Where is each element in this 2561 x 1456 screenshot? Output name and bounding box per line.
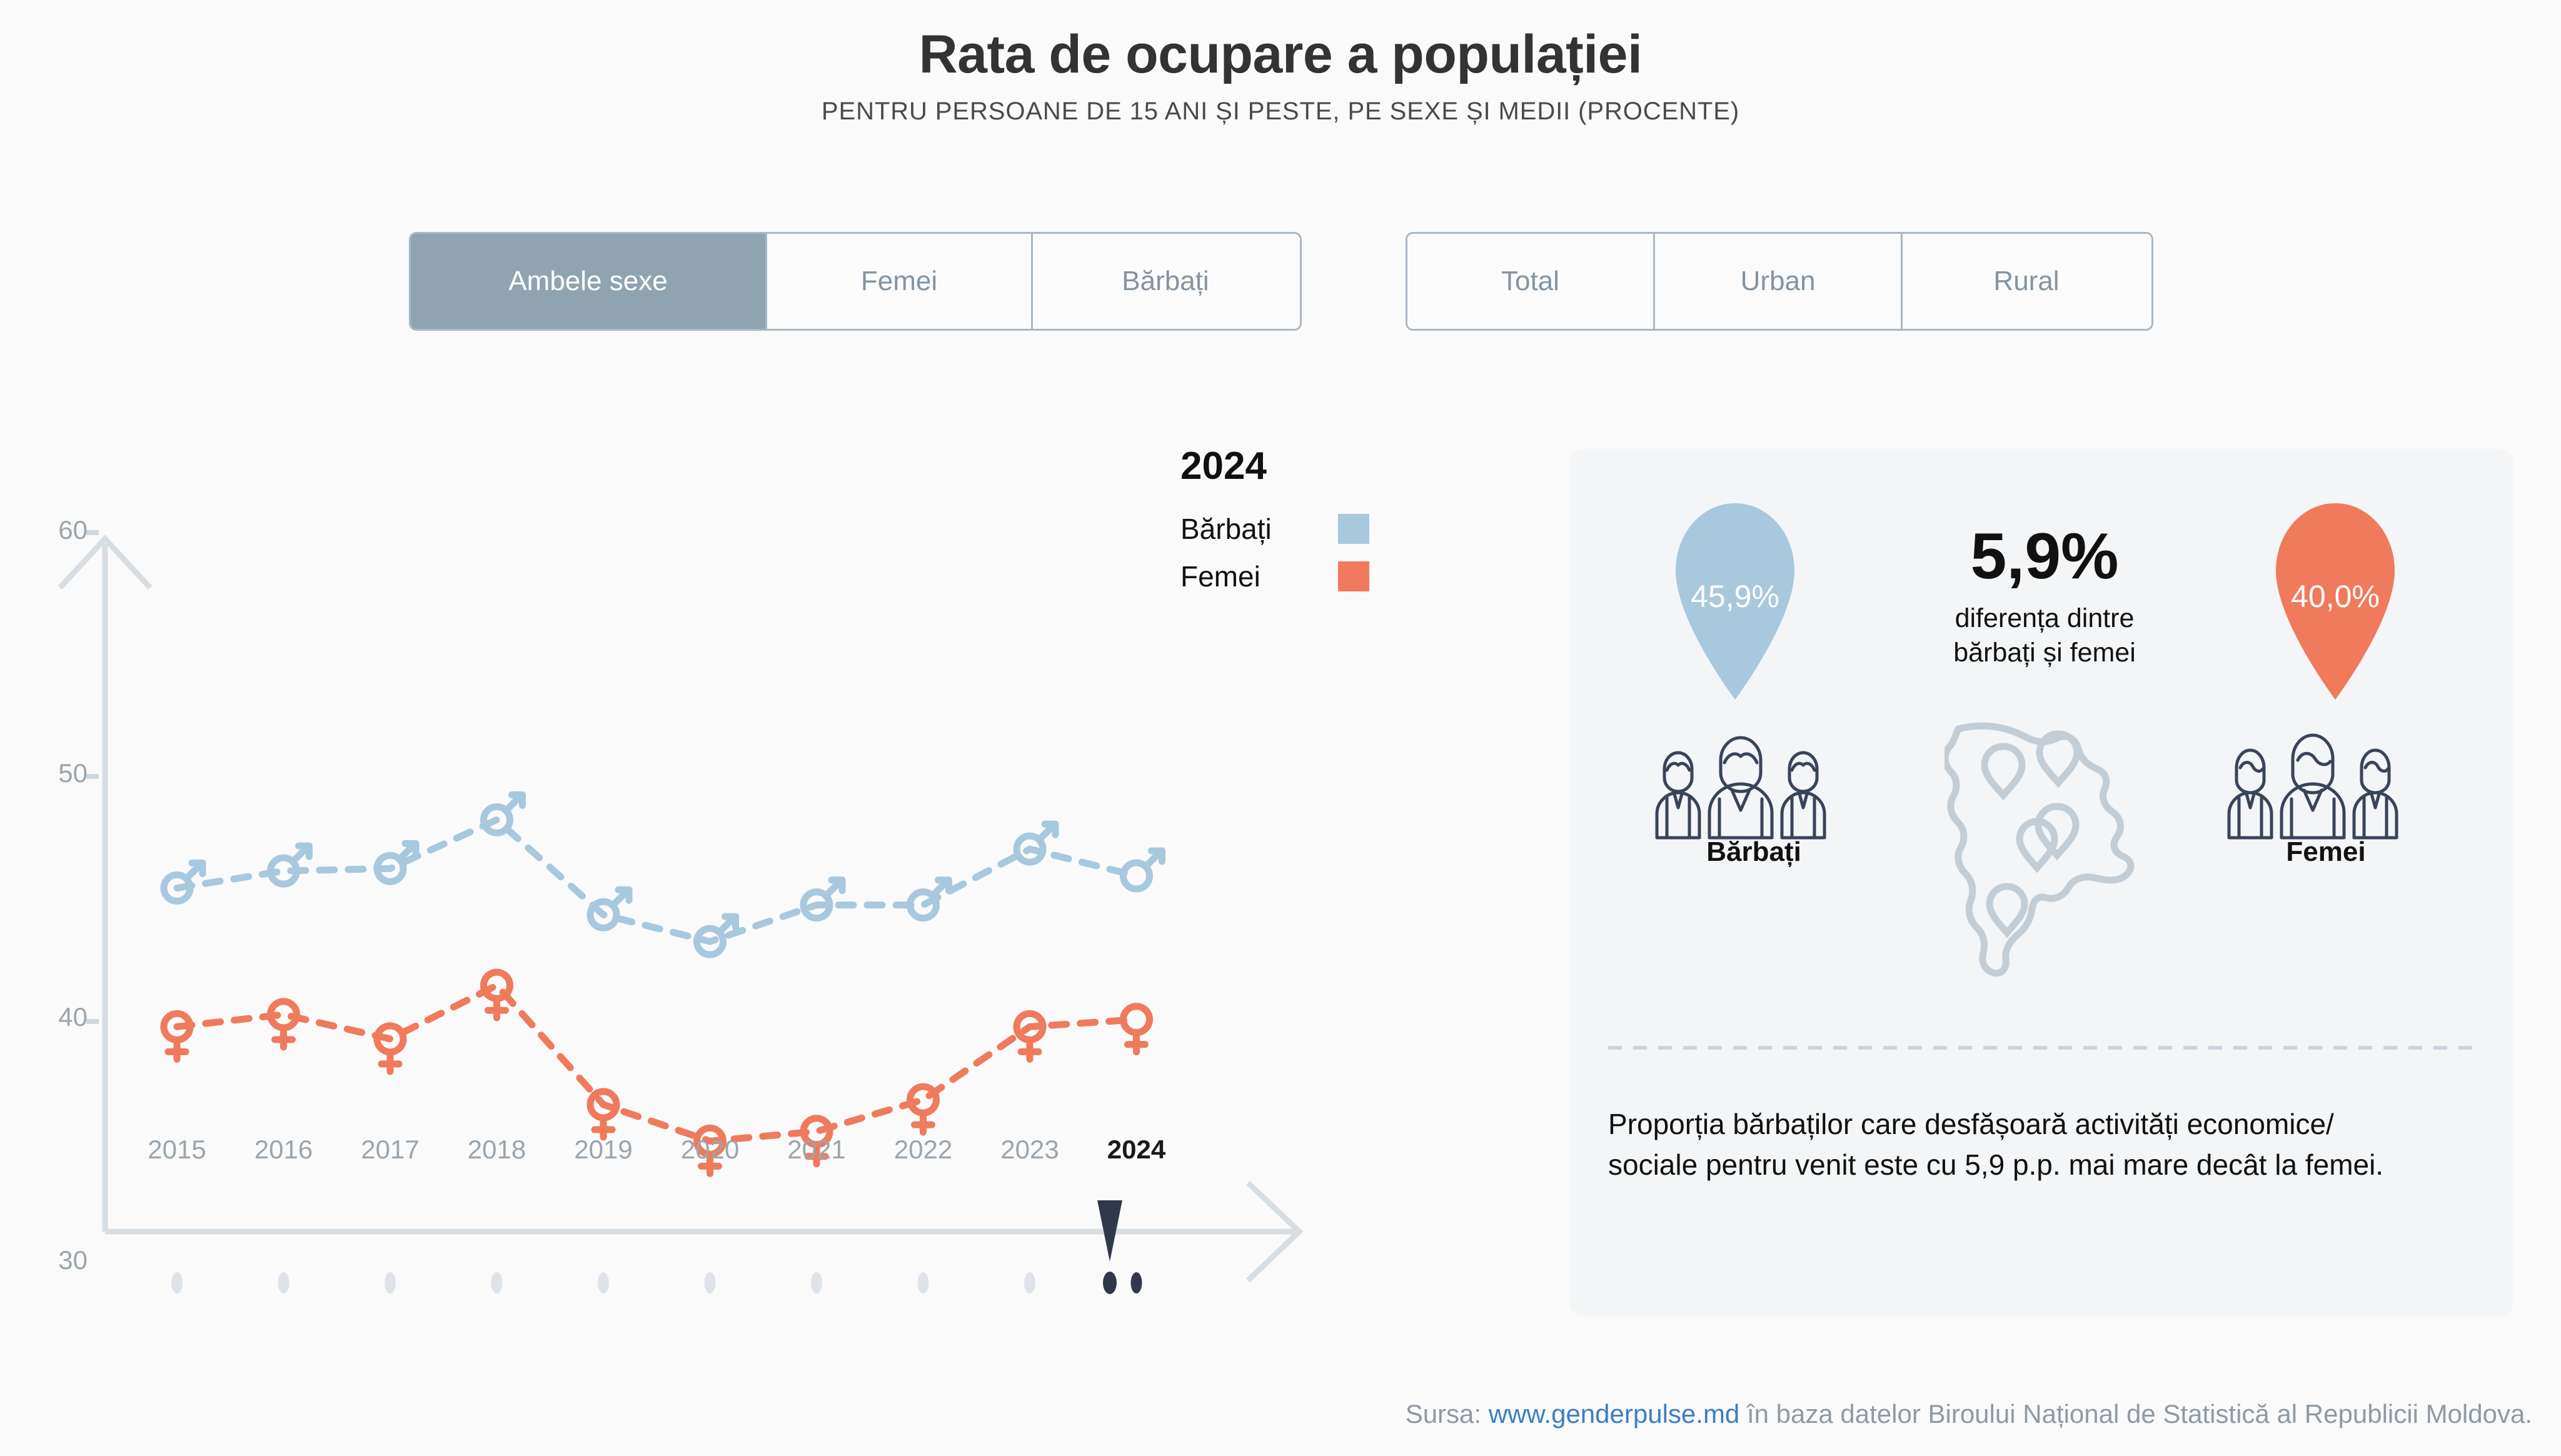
chart-series-layer bbox=[164, 795, 1162, 1173]
mars-symbol-2016[interactable] bbox=[271, 846, 309, 884]
info-panel: 45,9% 40,0% 5,9% diferența dintre bărbaț… bbox=[1569, 449, 2513, 1317]
mars-symbol-2023[interactable] bbox=[1017, 824, 1055, 862]
difference-caption: diferența dintre bărbați și femei bbox=[1857, 589, 2232, 670]
mars-symbol-2024[interactable] bbox=[1124, 851, 1162, 889]
header: Rata de ocupare a populației PENTRU PERS… bbox=[0, 0, 2561, 126]
people-group-femei bbox=[2223, 729, 2429, 845]
tab-ambele-sexe[interactable]: Ambele sexe bbox=[411, 234, 767, 329]
source-footer: Sursa: www.genderpulse.md în baza datelo… bbox=[0, 1399, 2561, 1429]
infographic-page: Rata de ocupare a populației PENTRU PERS… bbox=[0, 0, 2561, 1456]
source-prefix: Sursa: bbox=[1406, 1399, 1489, 1428]
mars-symbol-2015[interactable] bbox=[164, 863, 203, 901]
difference-caption-line1: diferența dintre bbox=[1955, 603, 2135, 633]
legend-swatch-barbati bbox=[1338, 514, 1369, 544]
y-tick-40: 40 bbox=[19, 1002, 88, 1032]
chart-legend: 2024 Bărbați Femei bbox=[1180, 444, 1406, 607]
x-dot-2015 bbox=[171, 1272, 183, 1293]
x-dot-2024 bbox=[1131, 1272, 1142, 1293]
pin-femei: 40,0% bbox=[2263, 496, 2407, 702]
filter-tabs: Ambele sexe Femei Bărbați Total Urban Ru… bbox=[0, 232, 2561, 332]
moldova-map-icon bbox=[1945, 718, 2151, 990]
chart-y-ticks bbox=[86, 533, 99, 1022]
x-dot-2023 bbox=[1024, 1272, 1035, 1293]
x-dot-2019 bbox=[598, 1272, 609, 1293]
venus-symbol-2024[interactable] bbox=[1124, 1007, 1150, 1052]
pin-value-barbati: 45,9% bbox=[1663, 578, 1807, 615]
source-link[interactable]: www.genderpulse.md bbox=[1489, 1399, 1740, 1428]
legend-label-femei: Femei bbox=[1180, 560, 1260, 593]
page-subtitle: PENTRU PERSOANE DE 15 ANI ȘI PESTE, PE S… bbox=[0, 83, 2561, 126]
mars-symbol-2021[interactable] bbox=[803, 880, 842, 918]
difference-block: 5,9% diferența dintre bărbați și femei bbox=[1857, 524, 2232, 670]
tab-total[interactable]: Total bbox=[1407, 234, 1655, 329]
panel-divider bbox=[1608, 1046, 2474, 1050]
tabgroup-sex: Ambele sexe Femei Bărbați bbox=[409, 232, 1302, 331]
mars-symbol-2018[interactable] bbox=[484, 795, 523, 833]
x-tick-2016[interactable]: 2016 bbox=[224, 1135, 343, 1165]
panel-note: Proporția bărbaților care desfășoară act… bbox=[1608, 1104, 2427, 1186]
x-dot-2020 bbox=[705, 1272, 716, 1293]
x-tick-2021[interactable]: 2021 bbox=[757, 1135, 876, 1165]
series-line-bărbați bbox=[177, 820, 1137, 941]
venus-symbol-2022[interactable] bbox=[910, 1087, 937, 1132]
legend-label-barbati: Bărbați bbox=[1180, 512, 1272, 546]
legend-item-barbati[interactable]: Bărbați bbox=[1180, 512, 1369, 546]
pin-barbati: 45,9% bbox=[1663, 496, 1807, 702]
people-group-barbati bbox=[1651, 729, 1857, 845]
x-dot-2022 bbox=[918, 1272, 929, 1293]
x-tick-2020[interactable]: 2020 bbox=[651, 1135, 770, 1165]
venus-symbol-2023[interactable] bbox=[1017, 1013, 1043, 1059]
x-tick-2018[interactable]: 2018 bbox=[438, 1135, 556, 1165]
chart-x-dots bbox=[171, 1272, 1142, 1293]
x-tick-2015[interactable]: 2015 bbox=[118, 1135, 236, 1165]
difference-value: 5,9% bbox=[1857, 524, 2232, 589]
tab-barbati[interactable]: Bărbați bbox=[1033, 234, 1298, 329]
legend-swatch-femei bbox=[1338, 561, 1369, 591]
x-tick-2022[interactable]: 2022 bbox=[864, 1135, 983, 1165]
venus-symbol-2019[interactable] bbox=[590, 1092, 616, 1137]
x-tick-2023[interactable]: 2023 bbox=[970, 1135, 1089, 1165]
source-suffix: în baza datelor Biroului Național de Sta… bbox=[1739, 1399, 2532, 1428]
tab-rural[interactable]: Rural bbox=[1903, 234, 2150, 329]
tab-urban[interactable]: Urban bbox=[1655, 234, 1903, 329]
x-tick-2019[interactable]: 2019 bbox=[544, 1135, 663, 1165]
y-tick-60: 60 bbox=[19, 515, 88, 545]
x-tick-2017[interactable]: 2017 bbox=[331, 1135, 450, 1165]
y-tick-50: 50 bbox=[19, 758, 88, 788]
x-dot-2021 bbox=[811, 1272, 822, 1293]
pin-value-femei: 40,0% bbox=[2263, 578, 2407, 615]
x-tick-2024[interactable]: 2024 bbox=[1077, 1135, 1196, 1165]
page-title: Rata de ocupare a populației bbox=[0, 0, 2561, 83]
x-dot-2017 bbox=[385, 1272, 396, 1293]
current-year-pointer bbox=[1097, 1200, 1122, 1294]
venus-symbol-2018[interactable] bbox=[484, 972, 510, 1018]
legend-item-femei[interactable]: Femei bbox=[1180, 560, 1369, 593]
people-label-femei: Femei bbox=[2223, 836, 2429, 868]
y-tick-30: 30 bbox=[19, 1245, 88, 1275]
chart-axes bbox=[60, 539, 1299, 1280]
venus-symbol-2016[interactable] bbox=[271, 1002, 297, 1047]
x-dot-2018 bbox=[491, 1272, 503, 1293]
x-dot-2016 bbox=[278, 1272, 289, 1293]
tabgroup-area: Total Urban Rural bbox=[1406, 232, 2153, 331]
tab-femei[interactable]: Femei bbox=[767, 234, 1033, 329]
difference-caption-line2: bărbați și femei bbox=[1953, 638, 2136, 668]
series-line-femei bbox=[177, 985, 1137, 1141]
people-label-barbati: Bărbați bbox=[1651, 836, 1857, 868]
legend-year: 2024 bbox=[1180, 444, 1406, 488]
venus-symbol-2015[interactable] bbox=[164, 1013, 190, 1059]
venus-symbol-2017[interactable] bbox=[377, 1026, 403, 1072]
